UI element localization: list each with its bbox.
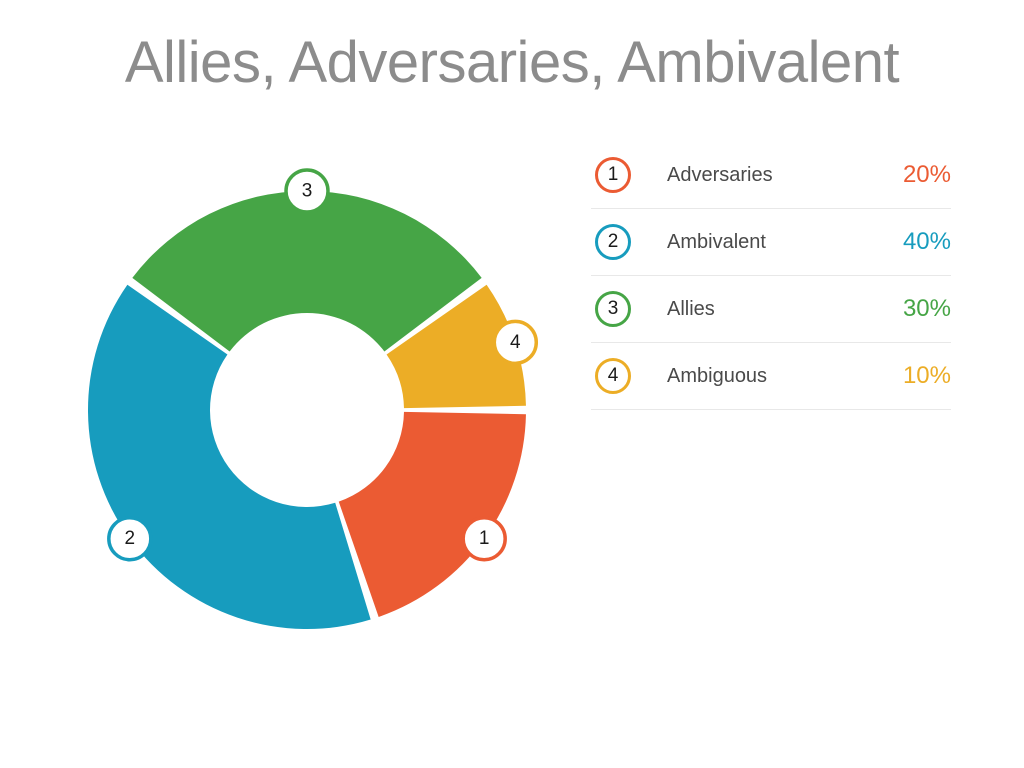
donut-marker-ambivalent[interactable]: 2	[109, 518, 151, 560]
legend-value-ambivalent: 40%	[875, 228, 951, 256]
legend-label-adversaries: Adversaries	[667, 164, 875, 187]
legend-number-badge-4: 4	[595, 358, 631, 394]
donut-chart-svg: 1234	[68, 160, 568, 660]
legend-label-ambivalent: Ambivalent	[667, 231, 875, 254]
marker-number-ambiguous: 4	[510, 332, 521, 353]
donut-marker-allies[interactable]: 3	[286, 170, 328, 212]
legend-number-badge-1: 1	[595, 157, 631, 193]
legend: 1Adversaries20%2Ambivalent40%3Allies30%4…	[591, 142, 951, 410]
page-title: Allies, Adversaries, Ambivalent	[0, 28, 1024, 98]
legend-label-allies: Allies	[667, 298, 875, 321]
legend-row-allies[interactable]: 3Allies30%	[591, 276, 951, 343]
legend-value-allies: 30%	[875, 295, 951, 323]
legend-number-badge-3: 3	[595, 291, 631, 327]
legend-row-adversaries[interactable]: 1Adversaries20%	[591, 142, 951, 209]
donut-chart: 1234	[68, 160, 568, 660]
slide-canvas: Allies, Adversaries, Ambivalent 1234 1Ad…	[0, 0, 1024, 768]
donut-marker-adversaries[interactable]: 1	[463, 518, 505, 560]
legend-row-ambivalent[interactable]: 2Ambivalent40%	[591, 209, 951, 276]
marker-number-allies: 3	[302, 181, 313, 202]
legend-number-badge-2: 2	[595, 224, 631, 260]
donut-slice-adversaries[interactable]	[339, 412, 526, 617]
marker-number-ambivalent: 2	[125, 528, 136, 549]
legend-label-ambiguous: Ambiguous	[667, 365, 875, 388]
legend-value-ambiguous: 10%	[875, 362, 951, 390]
legend-row-ambiguous[interactable]: 4Ambiguous10%	[591, 343, 951, 410]
legend-value-adversaries: 20%	[875, 161, 951, 189]
donut-slice-group	[88, 191, 526, 629]
marker-number-adversaries: 1	[479, 528, 490, 549]
donut-marker-ambiguous[interactable]: 4	[494, 321, 536, 363]
